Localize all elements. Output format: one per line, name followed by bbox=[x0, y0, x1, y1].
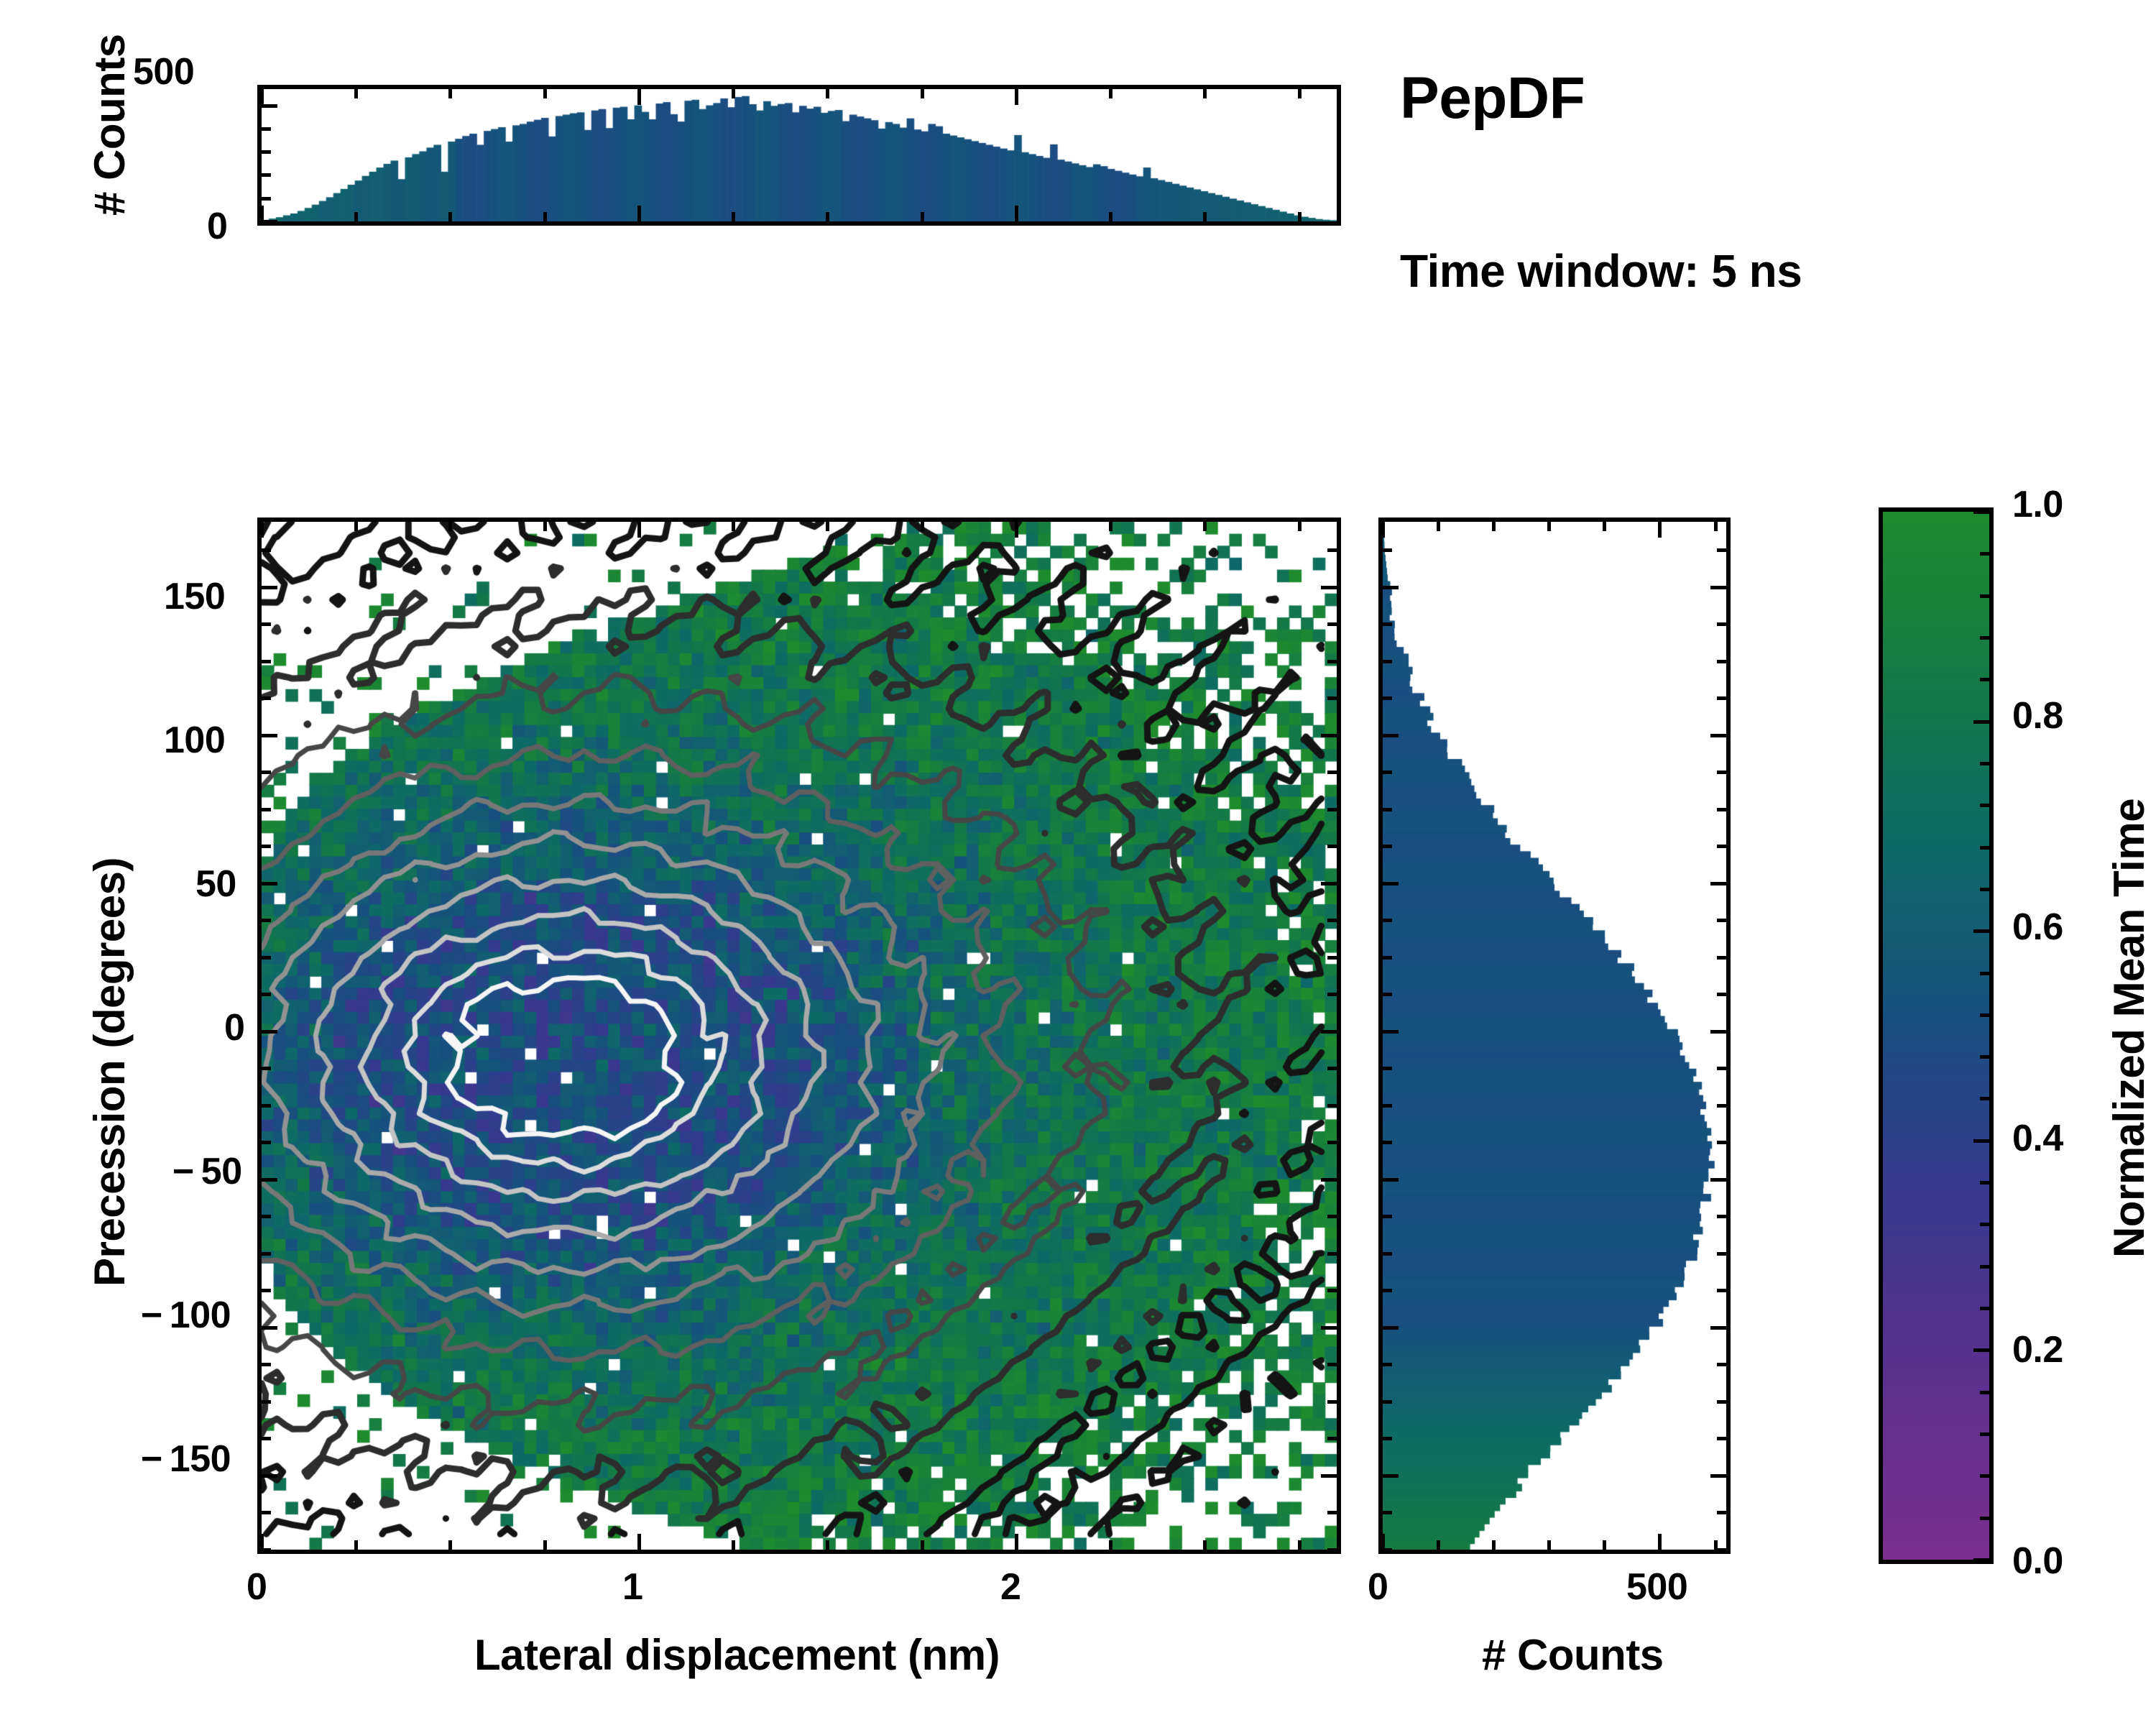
axis-tick bbox=[262, 734, 277, 737]
axis-tick bbox=[1327, 1252, 1337, 1256]
axis-tick bbox=[1383, 1363, 1392, 1366]
axis-tick bbox=[1383, 660, 1392, 663]
colorbar-tick bbox=[1980, 1013, 1989, 1017]
axis-tick bbox=[1383, 882, 1399, 885]
axis-tick bbox=[826, 522, 829, 531]
axis-tick bbox=[1015, 89, 1018, 105]
colorbar bbox=[1879, 507, 1994, 1564]
axis-tick bbox=[1383, 622, 1392, 626]
colorbar-tick bbox=[1973, 1348, 1989, 1352]
axis-tick bbox=[1658, 1534, 1662, 1550]
colorbar-tick bbox=[1980, 1307, 1989, 1310]
colorbar-tick bbox=[1973, 1558, 1989, 1562]
axis-tick bbox=[1717, 845, 1726, 848]
axis-tick bbox=[1383, 1289, 1392, 1292]
axis-tick bbox=[1327, 1548, 1337, 1552]
main-xlabel: Lateral displacement (nm) bbox=[474, 1630, 1000, 1680]
axis-tick bbox=[1109, 89, 1112, 98]
right-hist-xtick-0: 0 bbox=[1368, 1565, 1388, 1609]
axis-tick bbox=[1327, 956, 1337, 960]
axis-tick bbox=[1383, 1326, 1399, 1330]
main-ytick-neg150: − 150 bbox=[141, 1437, 231, 1481]
axis-tick bbox=[1717, 1067, 1726, 1070]
axis-tick bbox=[1321, 882, 1337, 885]
colorbar-tick bbox=[1980, 846, 1989, 850]
axis-tick bbox=[1547, 1540, 1551, 1550]
axis-tick bbox=[1383, 1400, 1392, 1404]
colorbar-tick-0_8: 0.8 bbox=[2012, 694, 2063, 737]
axis-tick bbox=[1109, 522, 1112, 531]
top-histogram-bars bbox=[262, 89, 1337, 221]
axis-tick bbox=[1710, 1030, 1726, 1034]
axis-tick bbox=[1492, 522, 1496, 531]
colorbar-tick bbox=[1980, 678, 1989, 681]
axis-tick bbox=[448, 522, 452, 531]
axis-tick bbox=[1717, 1437, 1726, 1440]
axis-tick bbox=[1383, 808, 1392, 811]
colorbar-tick-0_0: 0.0 bbox=[2012, 1540, 2063, 1583]
axis-tick bbox=[262, 1437, 271, 1440]
axis-tick bbox=[732, 1540, 735, 1550]
axis-tick bbox=[637, 89, 641, 105]
axis-tick bbox=[1717, 956, 1726, 960]
axis-tick bbox=[1327, 660, 1337, 663]
colorbar-tick bbox=[1980, 1055, 1989, 1059]
axis-tick bbox=[1717, 993, 1726, 996]
colorbar-tick bbox=[1980, 1223, 1989, 1226]
axis-tick bbox=[262, 882, 277, 885]
axis-tick bbox=[826, 212, 829, 221]
colorbar-tick bbox=[1980, 1517, 1989, 1520]
axis-tick bbox=[1321, 586, 1337, 589]
axis-tick bbox=[262, 1178, 277, 1182]
axis-tick bbox=[1383, 548, 1392, 552]
colorbar-tick-1_0: 1.0 bbox=[2012, 483, 2063, 526]
colorbar-tick bbox=[1980, 972, 1989, 975]
axis-tick bbox=[1603, 1540, 1606, 1550]
axis-tick bbox=[1327, 1104, 1337, 1108]
axis-tick bbox=[1298, 522, 1302, 531]
top-hist-ylabel: # Counts bbox=[85, 34, 134, 216]
axis-tick bbox=[262, 586, 277, 589]
axis-tick bbox=[1383, 734, 1399, 737]
axis-tick bbox=[260, 89, 264, 105]
axis-tick bbox=[1381, 522, 1385, 538]
colorbar-tick bbox=[1980, 888, 1989, 891]
axis-tick bbox=[262, 1474, 277, 1478]
axis-tick bbox=[448, 89, 452, 98]
colorbar-tick bbox=[1980, 1391, 1989, 1394]
colorbar-tick bbox=[1980, 594, 1989, 598]
axis-tick bbox=[1109, 1540, 1112, 1550]
axis-tick bbox=[1383, 993, 1392, 996]
right-hist-xlabel: # Counts bbox=[1482, 1630, 1664, 1680]
axis-tick bbox=[1015, 1534, 1018, 1550]
axis-tick bbox=[262, 808, 271, 811]
axis-tick bbox=[262, 1104, 271, 1108]
axis-tick bbox=[354, 89, 358, 98]
axis-tick bbox=[1717, 1548, 1726, 1552]
axis-tick bbox=[826, 89, 829, 98]
axis-tick bbox=[921, 212, 924, 221]
axis-tick bbox=[543, 89, 547, 98]
axis-tick bbox=[1710, 882, 1726, 885]
axis-tick bbox=[1717, 548, 1726, 552]
axis-tick bbox=[1327, 1141, 1337, 1144]
axis-tick bbox=[1321, 1178, 1337, 1182]
axis-tick bbox=[1717, 1511, 1726, 1514]
axis-tick bbox=[1717, 622, 1726, 626]
axis-tick bbox=[1383, 1252, 1392, 1256]
figure-subtitle: Time window: 5 ns bbox=[1400, 244, 1802, 298]
axis-tick bbox=[1492, 1540, 1496, 1550]
axis-tick bbox=[637, 522, 641, 538]
colorbar-tick-0_4: 0.4 bbox=[2012, 1117, 2063, 1160]
right-hist-xtick-500: 500 bbox=[1626, 1565, 1687, 1609]
axis-tick bbox=[262, 919, 271, 922]
axis-tick bbox=[1327, 1289, 1337, 1292]
axis-tick bbox=[1717, 1289, 1726, 1292]
axis-tick bbox=[262, 660, 271, 663]
axis-tick bbox=[1327, 1511, 1337, 1514]
axis-tick bbox=[1327, 1215, 1337, 1218]
axis-tick bbox=[1437, 1540, 1440, 1550]
colorbar-tick bbox=[1980, 804, 1989, 807]
axis-tick bbox=[262, 197, 271, 201]
axis-tick bbox=[354, 212, 358, 221]
axis-tick bbox=[921, 1540, 924, 1550]
axis-tick bbox=[1383, 1067, 1392, 1070]
axis-tick bbox=[543, 522, 547, 531]
top-hist-ytick-500: 500 bbox=[133, 50, 194, 93]
axis-tick bbox=[1383, 1141, 1392, 1144]
axis-tick bbox=[921, 522, 924, 531]
axis-tick bbox=[262, 1252, 271, 1256]
main-xtick-2: 2 bbox=[1000, 1565, 1021, 1609]
colorbar-tick-0_2: 0.2 bbox=[2012, 1328, 2063, 1371]
axis-tick bbox=[1383, 919, 1392, 922]
main-ytick-0: 0 bbox=[224, 1006, 244, 1049]
axis-tick bbox=[262, 1067, 271, 1070]
axis-tick bbox=[262, 696, 271, 700]
axis-tick bbox=[262, 1326, 277, 1330]
axis-tick bbox=[1327, 1363, 1337, 1366]
axis-tick bbox=[1710, 1326, 1726, 1330]
axis-tick bbox=[262, 1030, 277, 1034]
axis-tick bbox=[262, 622, 271, 626]
axis-tick bbox=[1015, 522, 1018, 538]
axis-tick bbox=[1717, 1363, 1726, 1366]
axis-tick bbox=[637, 1534, 641, 1550]
axis-tick bbox=[1321, 734, 1337, 737]
axis-tick bbox=[262, 104, 277, 108]
main-ytick-100: 100 bbox=[164, 719, 225, 762]
axis-tick bbox=[1383, 1511, 1392, 1514]
axis-tick bbox=[1203, 212, 1207, 221]
axis-tick bbox=[354, 1540, 358, 1550]
axis-tick bbox=[260, 206, 264, 221]
axis-tick bbox=[921, 89, 924, 98]
axis-tick bbox=[1327, 808, 1337, 811]
colorbar-tick bbox=[1980, 1432, 1989, 1436]
axis-tick bbox=[1298, 1540, 1302, 1550]
axis-tick bbox=[1298, 212, 1302, 221]
right-histogram-bars bbox=[1383, 522, 1726, 1550]
main-ytick-neg50: − 50 bbox=[172, 1150, 242, 1193]
axis-tick bbox=[1327, 696, 1337, 700]
axis-tick bbox=[1603, 522, 1606, 531]
axis-tick bbox=[732, 89, 735, 98]
axis-tick bbox=[262, 1511, 271, 1514]
main-heatmap-contours bbox=[262, 522, 1337, 1550]
axis-tick bbox=[1383, 1548, 1392, 1552]
colorbar-tick bbox=[1980, 552, 1989, 556]
axis-tick bbox=[262, 770, 271, 774]
axis-tick bbox=[1383, 1437, 1392, 1440]
axis-tick bbox=[262, 548, 271, 552]
colorbar-tick bbox=[1980, 1474, 1989, 1478]
axis-tick bbox=[1717, 808, 1726, 811]
main-ytick-50: 50 bbox=[195, 862, 236, 906]
axis-tick bbox=[1658, 522, 1662, 538]
main-ylabel: Precession (degrees) bbox=[85, 857, 134, 1287]
axis-tick bbox=[1717, 1400, 1726, 1404]
axis-tick bbox=[1298, 89, 1302, 98]
colorbar-tick bbox=[1973, 929, 1989, 933]
axis-tick bbox=[1321, 1030, 1337, 1034]
axis-tick bbox=[1714, 522, 1718, 531]
axis-tick bbox=[1327, 993, 1337, 996]
main-ytick-neg100: − 100 bbox=[141, 1294, 231, 1337]
figure-title: PepDF bbox=[1400, 65, 1585, 132]
axis-tick bbox=[1383, 1178, 1399, 1182]
colorbar-tick bbox=[1980, 762, 1989, 765]
colorbar-tick-0_6: 0.6 bbox=[2012, 906, 2063, 949]
axis-tick bbox=[1327, 770, 1337, 774]
axis-tick bbox=[1717, 1252, 1726, 1256]
axis-tick bbox=[262, 1289, 271, 1292]
axis-tick bbox=[1710, 1178, 1726, 1182]
top-hist-ytick-0: 0 bbox=[207, 205, 227, 248]
colorbar-tick bbox=[1973, 510, 1989, 514]
axis-tick bbox=[1710, 734, 1726, 737]
main-ytick-150: 150 bbox=[164, 575, 225, 618]
axis-tick bbox=[1321, 1474, 1337, 1478]
axis-tick bbox=[262, 173, 271, 177]
axis-tick bbox=[1383, 696, 1392, 700]
axis-tick bbox=[1710, 1474, 1726, 1478]
axis-tick bbox=[1717, 1215, 1726, 1218]
axis-tick bbox=[1717, 696, 1726, 700]
main-xtick-1: 1 bbox=[622, 1565, 642, 1609]
colorbar-tick bbox=[1980, 1265, 1989, 1269]
colorbar-tick bbox=[1980, 636, 1989, 640]
axis-tick bbox=[448, 1540, 452, 1550]
axis-tick bbox=[543, 212, 547, 221]
axis-tick bbox=[1383, 1215, 1392, 1218]
axis-tick bbox=[1327, 1067, 1337, 1070]
axis-tick bbox=[1383, 1104, 1392, 1108]
axis-tick bbox=[1203, 89, 1207, 98]
axis-tick bbox=[262, 1215, 271, 1218]
axis-tick bbox=[354, 522, 358, 531]
axis-tick bbox=[1717, 919, 1726, 922]
figure-root: 500 0 # Counts PepDF Time window: 5 ns 1… bbox=[0, 0, 2156, 1725]
axis-tick bbox=[260, 522, 264, 538]
axis-tick bbox=[1327, 919, 1337, 922]
axis-tick bbox=[732, 522, 735, 531]
colorbar-tick bbox=[1973, 1139, 1989, 1143]
axis-tick bbox=[262, 1400, 271, 1404]
axis-tick bbox=[1203, 1540, 1207, 1550]
axis-tick bbox=[1717, 660, 1726, 663]
axis-tick bbox=[1327, 622, 1337, 626]
colorbar-tick bbox=[1973, 720, 1989, 724]
axis-tick bbox=[1383, 956, 1392, 960]
axis-tick bbox=[1383, 1030, 1399, 1034]
axis-tick bbox=[1327, 845, 1337, 848]
axis-tick bbox=[262, 993, 271, 996]
axis-tick bbox=[637, 206, 641, 221]
colorbar-tick bbox=[1980, 1181, 1989, 1184]
colorbar-label: Normalized Mean Time bbox=[2104, 799, 2154, 1258]
axis-tick bbox=[1383, 770, 1392, 774]
axis-tick bbox=[1710, 586, 1726, 589]
axis-tick bbox=[1717, 1141, 1726, 1144]
main-xtick-0: 0 bbox=[247, 1565, 267, 1609]
axis-tick bbox=[1383, 845, 1392, 848]
colorbar-tick bbox=[1980, 1097, 1989, 1100]
axis-tick bbox=[262, 1141, 271, 1144]
axis-tick bbox=[262, 150, 271, 154]
axis-tick bbox=[262, 956, 271, 960]
axis-tick bbox=[1383, 1474, 1399, 1478]
axis-tick bbox=[262, 1363, 271, 1366]
axis-tick bbox=[1015, 206, 1018, 221]
axis-tick bbox=[732, 212, 735, 221]
axis-tick bbox=[1381, 1534, 1385, 1550]
axis-tick bbox=[1203, 522, 1207, 531]
axis-tick bbox=[262, 1548, 271, 1552]
axis-tick bbox=[262, 220, 277, 224]
axis-tick bbox=[1327, 548, 1337, 552]
axis-tick bbox=[826, 1540, 829, 1550]
axis-tick bbox=[1109, 212, 1112, 221]
axis-tick bbox=[1321, 1326, 1337, 1330]
axis-tick bbox=[543, 1540, 547, 1550]
axis-tick bbox=[1327, 1400, 1337, 1404]
axis-tick bbox=[1547, 522, 1551, 531]
axis-tick bbox=[1717, 770, 1726, 774]
axis-tick bbox=[1327, 1437, 1337, 1440]
axis-tick bbox=[448, 212, 452, 221]
axis-tick bbox=[1717, 1104, 1726, 1108]
axis-tick bbox=[1383, 586, 1399, 589]
axis-tick bbox=[1437, 522, 1440, 531]
axis-tick bbox=[260, 1534, 264, 1550]
axis-tick bbox=[262, 127, 271, 131]
axis-tick bbox=[262, 845, 271, 848]
